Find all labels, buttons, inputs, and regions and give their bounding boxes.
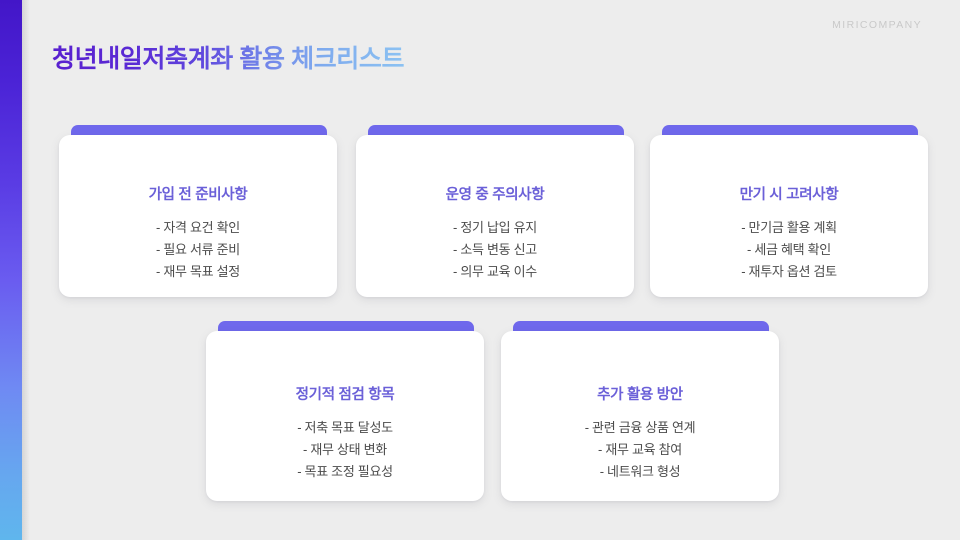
card-heading: 가입 전 준비사항	[149, 183, 248, 204]
list-item: - 소득 변동 신고	[453, 239, 537, 261]
card-item-list: - 저축 목표 달성도 - 재무 상태 변화 - 목표 조정 필요성	[297, 417, 393, 483]
card-heading: 추가 활용 방안	[597, 383, 683, 404]
card-item-list: - 정기 납입 유지 - 소득 변동 신고 - 의무 교육 이수	[453, 217, 537, 283]
card-body: 가입 전 준비사항 - 자격 요건 확인 - 필요 서류 준비 - 재무 목표 …	[59, 135, 337, 297]
card-item-list: - 자격 요건 확인 - 필요 서류 준비 - 재무 목표 설정	[156, 217, 240, 283]
card-heading: 만기 시 고려사항	[740, 183, 839, 204]
list-item: - 의무 교육 이수	[453, 261, 537, 283]
list-item: - 필요 서류 준비	[156, 239, 240, 261]
list-item: - 재무 상태 변화	[297, 439, 393, 461]
card-body: 만기 시 고려사항 - 만기금 활용 계획 - 세금 혜택 확인 - 재투자 옵…	[650, 135, 928, 297]
card-item-list: - 관련 금융 상품 연계 - 재무 교육 참여 - 네트워크 형성	[585, 417, 696, 483]
list-item: - 자격 요건 확인	[156, 217, 240, 239]
list-item: - 재무 교육 참여	[585, 439, 696, 461]
left-accent-bar	[0, 0, 22, 540]
card-item-list: - 만기금 활용 계획 - 세금 혜택 확인 - 재투자 옵션 검토	[741, 217, 837, 283]
list-item: - 만기금 활용 계획	[741, 217, 837, 239]
list-item: - 관련 금융 상품 연계	[585, 417, 696, 439]
list-item: - 재투자 옵션 검토	[741, 261, 837, 283]
card-body: 추가 활용 방안 - 관련 금융 상품 연계 - 재무 교육 참여 - 네트워크…	[501, 331, 779, 501]
left-accent-bar-shadow	[22, 0, 30, 540]
list-item: - 세금 혜택 확인	[741, 239, 837, 261]
card-heading: 운영 중 주의사항	[446, 183, 545, 204]
card-body: 운영 중 주의사항 - 정기 납입 유지 - 소득 변동 신고 - 의무 교육 …	[356, 135, 634, 297]
brand-watermark: MIRICOMPANY	[832, 19, 922, 31]
list-item: - 목표 조정 필요성	[297, 461, 393, 483]
list-item: - 재무 목표 설정	[156, 261, 240, 283]
page-title: 청년내일저축계좌 활용 체크리스트	[52, 39, 404, 75]
list-item: - 네트워크 형성	[585, 461, 696, 483]
card-heading: 정기적 점검 항목	[296, 383, 395, 404]
list-item: - 정기 납입 유지	[453, 217, 537, 239]
card-body: 정기적 점검 항목 - 저축 목표 달성도 - 재무 상태 변화 - 목표 조정…	[206, 331, 484, 501]
slide-canvas: MIRICOMPANY 청년내일저축계좌 활용 체크리스트 가입 전 준비사항 …	[0, 0, 960, 540]
list-item: - 저축 목표 달성도	[297, 417, 393, 439]
